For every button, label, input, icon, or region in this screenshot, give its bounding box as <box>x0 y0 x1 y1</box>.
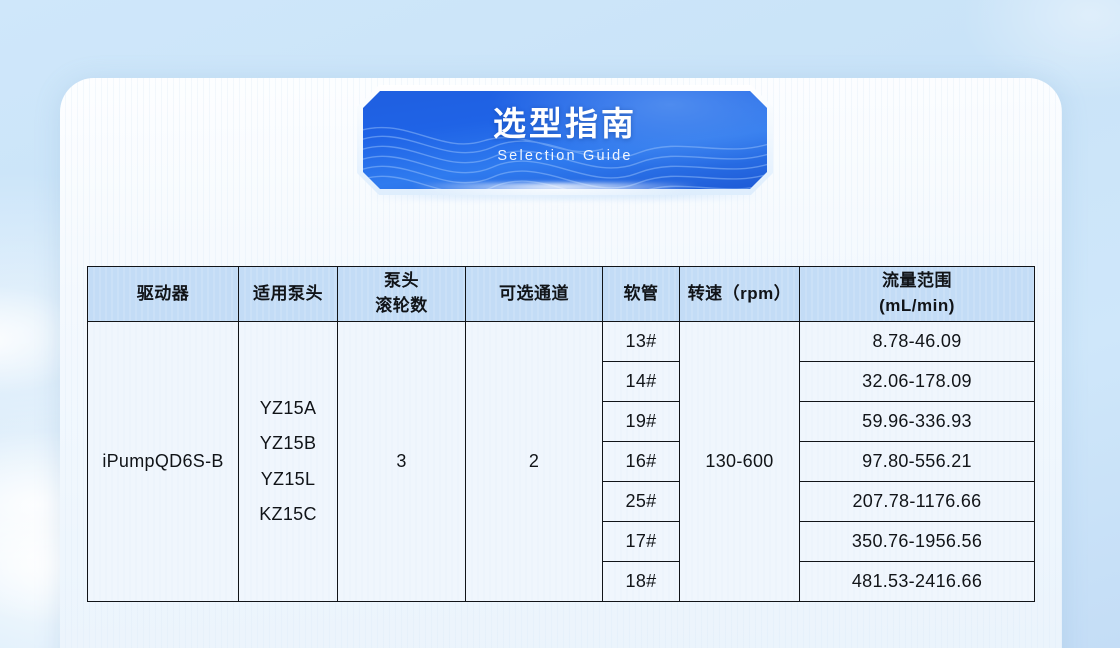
page-root: 选型指南 Selection Guide 驱动器 适用泵头 泵头 滚轮数 可选通… <box>0 0 1120 648</box>
banner-subtitle: Selection Guide <box>363 149 767 164</box>
cell-tubing: 16# <box>603 442 680 482</box>
cell-tubing: 13# <box>603 322 680 362</box>
cell-flow-range: 59.96-336.93 <box>800 402 1035 442</box>
header-flow-line1: 流量范围 <box>804 269 1030 294</box>
header-tubing: 软管 <box>603 267 680 322</box>
cell-driver: iPumpQD6S-B <box>88 322 239 602</box>
cell-flow-range: 481.53-2416.66 <box>800 562 1035 602</box>
banner-inner: 选型指南 Selection Guide <box>363 91 767 189</box>
cell-flow-range: 350.76-1956.56 <box>800 522 1035 562</box>
table-body: iPumpQD6S-BYZ15AYZ15BYZ15LKZ15C3213#130-… <box>88 322 1035 602</box>
cell-flow-range: 32.06-178.09 <box>800 362 1035 402</box>
cell-tubing: 19# <box>603 402 680 442</box>
cell-speed: 130-600 <box>680 322 800 602</box>
cell-tubing: 14# <box>603 362 680 402</box>
cell-tubing: 17# <box>603 522 680 562</box>
table-header-row: 驱动器 适用泵头 泵头 滚轮数 可选通道 软管 转速（rpm） 流量范围 (mL… <box>88 267 1035 322</box>
header-flow-line2: (mL/min) <box>804 294 1030 319</box>
cell-tubing: 18# <box>603 562 680 602</box>
header-speed: 转速（rpm） <box>680 267 800 322</box>
banner-bottom-glow <box>413 183 697 209</box>
selection-spec-table: 驱动器 适用泵头 泵头 滚轮数 可选通道 软管 转速（rpm） 流量范围 (mL… <box>87 266 1035 602</box>
cell-pump-heads: YZ15AYZ15BYZ15LKZ15C <box>239 322 338 602</box>
header-channels: 可选通道 <box>466 267 603 322</box>
cell-flow-range: 8.78-46.09 <box>800 322 1035 362</box>
header-rollers-line1: 泵头 <box>342 269 461 294</box>
selection-guide-banner: 选型指南 Selection Guide <box>353 81 777 199</box>
header-rollers-line2: 滚轮数 <box>342 294 461 319</box>
cell-tubing: 25# <box>603 482 680 522</box>
cell-flow-range: 97.80-556.21 <box>800 442 1035 482</box>
header-pump-head: 适用泵头 <box>239 267 338 322</box>
header-flow-range: 流量范围 (mL/min) <box>800 267 1035 322</box>
table-row: iPumpQD6S-BYZ15AYZ15BYZ15LKZ15C3213#130-… <box>88 322 1035 362</box>
cell-rollers: 3 <box>338 322 466 602</box>
cell-channels: 2 <box>466 322 603 602</box>
header-rollers: 泵头 滚轮数 <box>338 267 466 322</box>
banner-title: 选型指南 <box>363 107 767 140</box>
cell-flow-range: 207.78-1176.66 <box>800 482 1035 522</box>
header-driver: 驱动器 <box>88 267 239 322</box>
